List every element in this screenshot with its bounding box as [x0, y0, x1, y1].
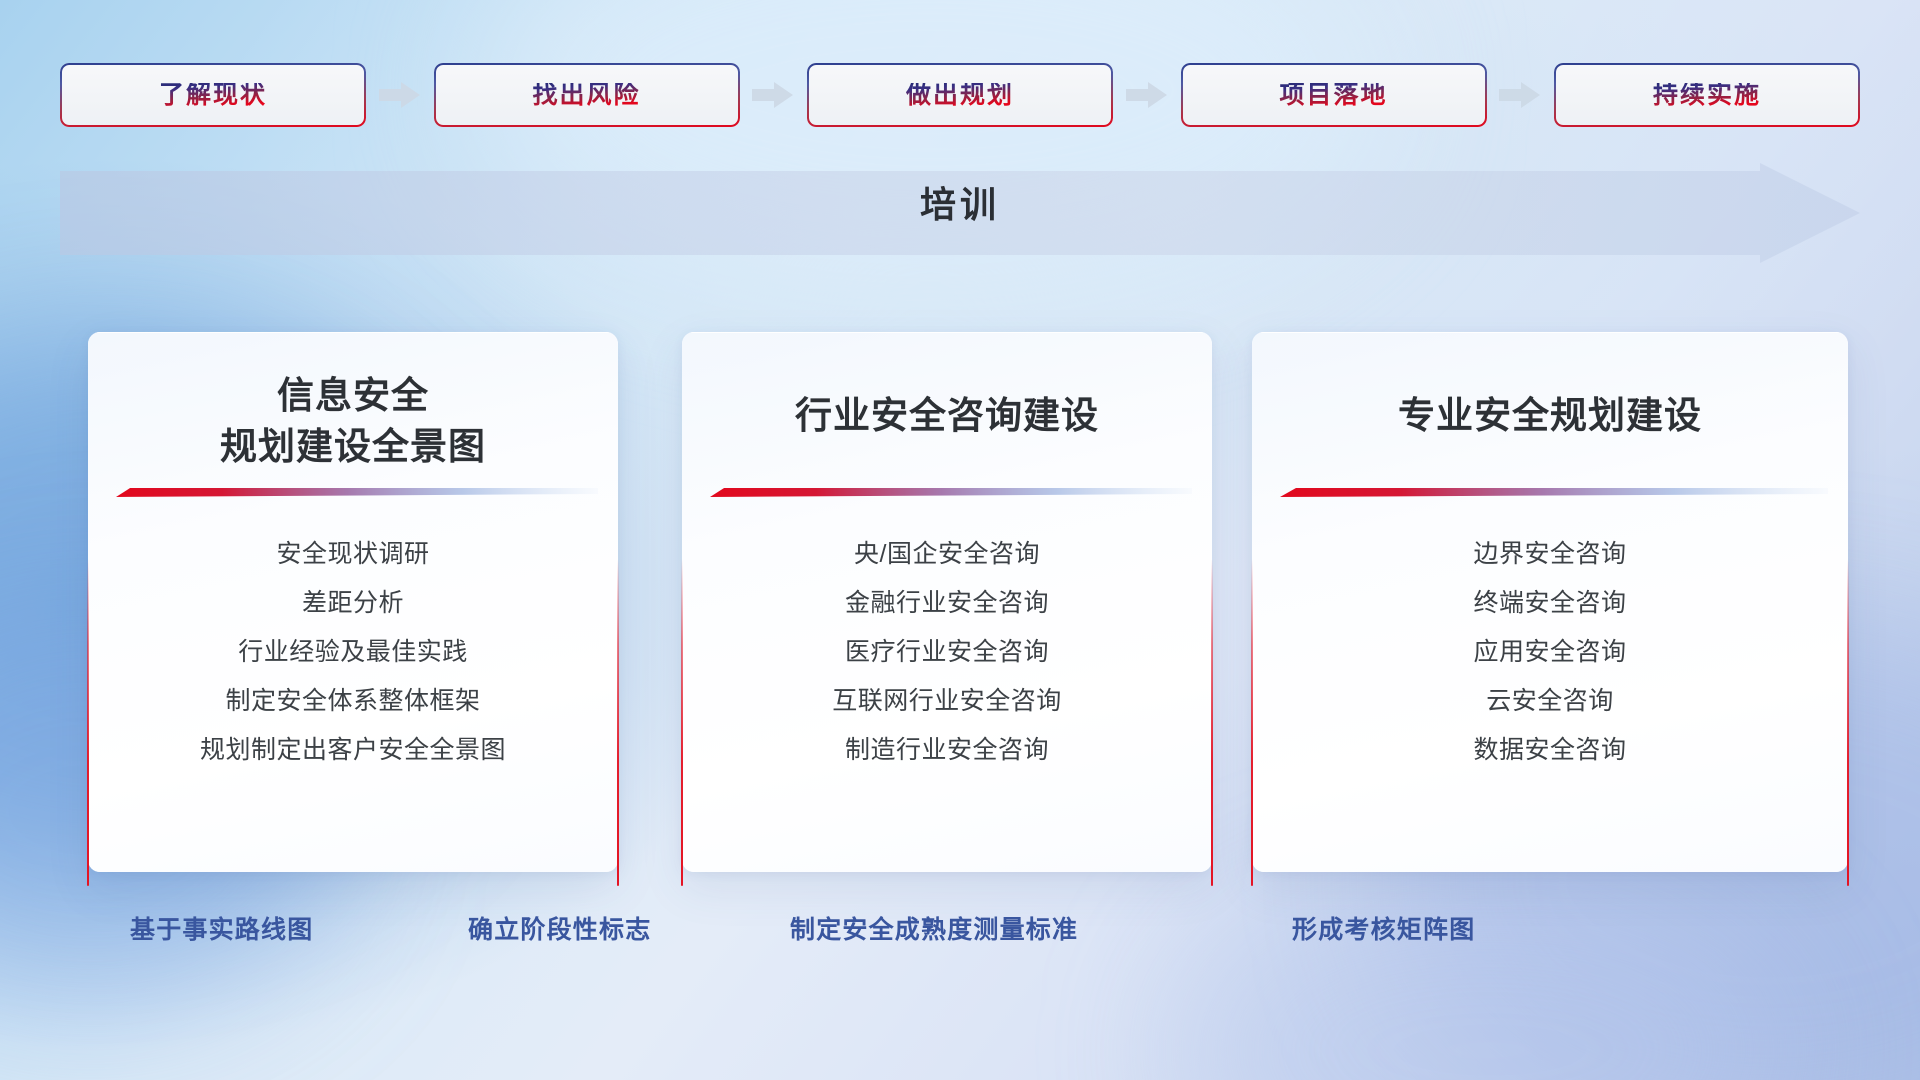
process-steps-bar: 了解现状 找出风险 做出规划 项目落地	[60, 62, 1860, 128]
card-information-security-panorama[interactable]: 信息安全 规划建设全景图 安全现状	[88, 332, 618, 872]
card-divider-gradient-rule	[1280, 488, 1828, 497]
chevron-right-arrow-icon	[379, 80, 421, 110]
card-top-highlight	[682, 332, 1212, 333]
list-item: 规划制定出客户安全全景图	[88, 726, 618, 775]
caption-2: 确立阶段性标志	[468, 918, 651, 943]
list-item: 医疗行业安全咨询	[682, 628, 1212, 677]
list-item: 安全现状调研	[88, 530, 618, 579]
card-item-list: 安全现状调研 差距分析 行业经验及最佳实践 制定安全体系整体框架 规划制定出客户…	[88, 530, 618, 775]
step-button-5[interactable]: 持续实施	[1554, 63, 1860, 127]
step-label-2: 找出风险	[532, 83, 640, 108]
chevron-right-arrow-icon	[1499, 80, 1541, 110]
step-label-4: 项目落地	[1279, 83, 1387, 108]
card-item-list: 边界安全咨询 终端安全咨询 应用安全咨询 云安全咨询 数据安全咨询	[1252, 530, 1848, 775]
card-title: 行业安全咨询建设	[682, 390, 1212, 441]
caption-3: 制定安全成熟度测量标准	[790, 918, 1078, 943]
card-top-highlight	[1252, 332, 1848, 333]
banner-title: 培训	[60, 187, 1860, 223]
cards-row: 信息安全 规划建设全景图 安全现状	[88, 332, 1848, 892]
list-item: 数据安全咨询	[1252, 726, 1848, 775]
list-item: 边界安全咨询	[1252, 530, 1848, 579]
list-item: 金融行业安全咨询	[682, 579, 1212, 628]
caption-1: 基于事实路线图	[130, 918, 313, 943]
card-divider-gradient-rule	[116, 488, 598, 497]
chevron-right-arrow-icon	[1126, 80, 1168, 110]
captions-row: 基于事实路线图 确立阶段性标志 制定安全成熟度测量标准 形成考核矩阵图	[0, 918, 1920, 962]
list-item: 行业经验及最佳实践	[88, 628, 618, 677]
caption-4: 形成考核矩阵图	[1292, 918, 1475, 943]
list-item: 差距分析	[88, 579, 618, 628]
card-professional-security-planning[interactable]: 专业安全规划建设 边界安全咨询	[1252, 332, 1848, 872]
list-item: 互联网行业安全咨询	[682, 677, 1212, 726]
list-item: 制造行业安全咨询	[682, 726, 1212, 775]
background-glow-bottom-right	[1180, 880, 1800, 1080]
list-item: 云安全咨询	[1252, 677, 1848, 726]
list-item: 终端安全咨询	[1252, 579, 1848, 628]
step-button-1[interactable]: 了解现状	[60, 63, 366, 127]
card-item-list: 央/国企安全咨询 金融行业安全咨询 医疗行业安全咨询 互联网行业安全咨询 制造行…	[682, 530, 1212, 775]
list-item: 央/国企安全咨询	[682, 530, 1212, 579]
card-top-highlight	[88, 332, 618, 333]
infographic-canvas: 了解现状 找出风险 做出规划 项目落地	[0, 0, 1920, 1080]
step-button-2[interactable]: 找出风险	[434, 63, 740, 127]
chevron-right-arrow-icon	[752, 80, 794, 110]
card-industry-security-consulting[interactable]: 行业安全咨询建设 央/国企安全咨询	[682, 332, 1212, 872]
list-item: 应用安全咨询	[1252, 628, 1848, 677]
list-item: 制定安全体系整体框架	[88, 677, 618, 726]
step-button-3[interactable]: 做出规划	[807, 63, 1113, 127]
training-banner: 培训	[60, 163, 1860, 263]
step-label-5: 持续实施	[1653, 83, 1761, 108]
card-title: 专业安全规划建设	[1252, 390, 1848, 441]
step-label-3: 做出规划	[906, 83, 1014, 108]
card-divider-gradient-rule	[710, 488, 1192, 497]
card-title: 信息安全 规划建设全景图	[88, 370, 618, 472]
step-button-4[interactable]: 项目落地	[1181, 63, 1487, 127]
step-label-1: 了解现状	[159, 83, 267, 108]
